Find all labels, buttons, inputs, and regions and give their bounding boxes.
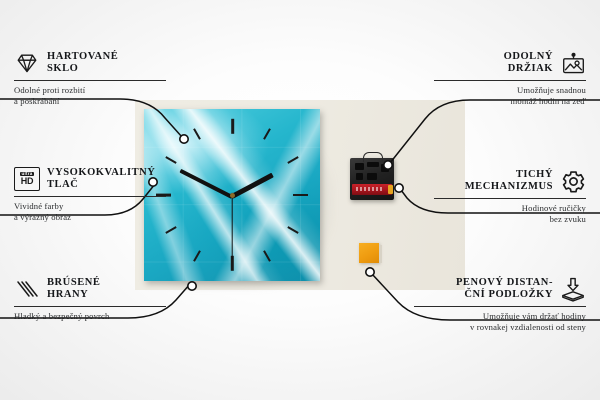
hd-badge-hd: HD (21, 177, 34, 186)
feature-header: HARTOVANÉSKLO (14, 50, 166, 76)
foam-spacer-icon (560, 276, 586, 302)
feature-divider (414, 306, 586, 307)
feature-description: Hodinové ručičkybez zvuku (434, 203, 586, 225)
feature-high-quality-print: ultra HD VYSOKOKVALITNÝTLAČ Vividné farb… (14, 166, 166, 223)
foam-spacer-pad (359, 243, 379, 263)
feature-silent-mechanism: TICHÝMECHANIZMUS Hodinové ručičkybez zvu… (434, 168, 586, 225)
clock-tick (231, 119, 234, 134)
feature-title: BRÚSENÉHRANY (47, 277, 100, 302)
feature-description: Vividné farbya výrazný obraz (14, 201, 166, 223)
feature-description: Umožňuje vám držať hodinyv rovnakej vzdi… (414, 311, 586, 333)
feature-description: Hladký a bezpečný povrch (14, 311, 166, 322)
feature-title: HARTOVANÉSKLO (47, 51, 118, 76)
feature-description: Odolné proti rozbitía poškrábání (14, 85, 166, 107)
clock-battery (352, 184, 392, 195)
glass-clock-face (144, 109, 320, 281)
feature-durable-hanger: ODOLNÝDRŽIAK Umožňuje snadnoumontáž hodi… (434, 50, 586, 107)
clock-center-cap (230, 193, 235, 198)
feature-divider (434, 80, 586, 81)
picture-frame-icon (560, 50, 586, 76)
movement-notch (381, 164, 389, 172)
feature-divider (14, 80, 166, 81)
feature-divider (434, 198, 586, 199)
feature-title: VYSOKOKVALITNÝTLAČ (47, 167, 155, 192)
product-photo (135, 100, 465, 290)
movement-notch (355, 163, 364, 170)
movement-notch (367, 173, 377, 180)
feature-header: PENOVÝ DISTAN-ČNÍ PODLOŽKY (414, 276, 586, 302)
movement-hanger-icon (363, 152, 383, 162)
feature-foam-spacers: PENOVÝ DISTAN-ČNÍ PODLOŽKY Umožňuje vám … (414, 276, 586, 333)
clock-second-hand (231, 196, 232, 260)
feature-title: ODOLNÝDRŽIAK (504, 51, 553, 76)
clock-movement (350, 158, 394, 200)
product-infographic: HARTOVANÉSKLO Odolné proti rozbitía pošk… (0, 0, 600, 400)
foam-pad-edge (379, 245, 382, 263)
feature-divider (14, 196, 166, 197)
feature-header: BRÚSENÉHRANY (14, 276, 166, 302)
gear-icon (560, 168, 586, 194)
feature-divider (14, 306, 166, 307)
feature-title: PENOVÝ DISTAN-ČNÍ PODLOŽKY (456, 277, 553, 302)
battery-terminal (388, 185, 393, 194)
battery-label (356, 187, 382, 191)
feature-title: TICHÝMECHANIZMUS (465, 169, 553, 194)
feature-header: TICHÝMECHANIZMUS (434, 168, 586, 194)
movement-notch (367, 162, 379, 167)
diamond-icon (14, 50, 40, 76)
feature-header: ODOLNÝDRŽIAK (434, 50, 586, 76)
feature-polished-edges: BRÚSENÉHRANY Hladký a bezpečný povrch (14, 276, 166, 322)
hd-badge: ultra HD (14, 167, 40, 191)
feature-header: ultra HD VYSOKOKVALITNÝTLAČ (14, 166, 166, 192)
feature-tempered-glass: HARTOVANÉSKLO Odolné proti rozbitía pošk… (14, 50, 166, 107)
clock-tick (293, 194, 308, 197)
feature-description: Umožňuje snadnoumontáž hodin na zeď (434, 85, 586, 107)
movement-notch (356, 173, 363, 180)
ultra-hd-icon: ultra HD (14, 166, 40, 192)
polished-edges-icon (14, 276, 40, 302)
